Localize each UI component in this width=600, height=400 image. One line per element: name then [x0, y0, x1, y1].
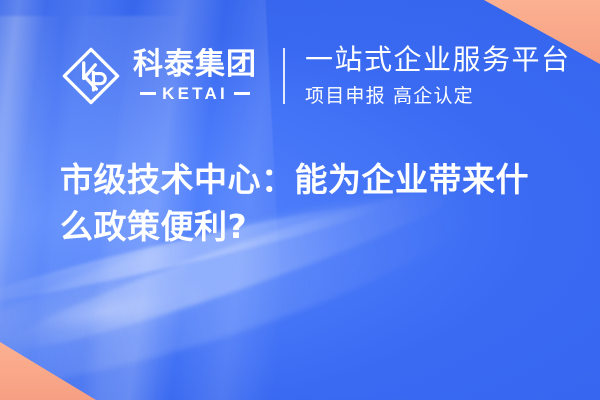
brand-name-cn: 科泰集团 [133, 50, 257, 80]
tagline-secondary: 项目申报 高企认定 [305, 81, 571, 108]
brand-name-en: KETAI [162, 85, 228, 102]
tagline-block: 一站式企业服务平台 项目申报 高企认定 [305, 44, 571, 108]
brand-lockup: 科泰集团 KETAI [60, 45, 257, 107]
headline-title: 市级技术中心：能为企业带来什么政策便利? [60, 157, 560, 251]
header-divider [283, 48, 285, 104]
wordmark-rule-left-icon [140, 92, 156, 95]
promo-banner: 科泰集团 KETAI 一站式企业服务平台 项目申报 高企认定 市级技术中心：能为… [0, 0, 600, 400]
brand-wordmark: 科泰集团 KETAI [133, 50, 257, 102]
tagline-primary: 一站式企业服务平台 [305, 44, 571, 75]
brand-name-en-row: KETAI [140, 85, 250, 102]
wordmark-rule-right-icon [234, 92, 250, 95]
ketai-diamond-kp-logo-icon [60, 45, 122, 107]
banner-header: 科泰集团 KETAI 一站式企业服务平台 项目申报 高企认定 [60, 44, 571, 108]
